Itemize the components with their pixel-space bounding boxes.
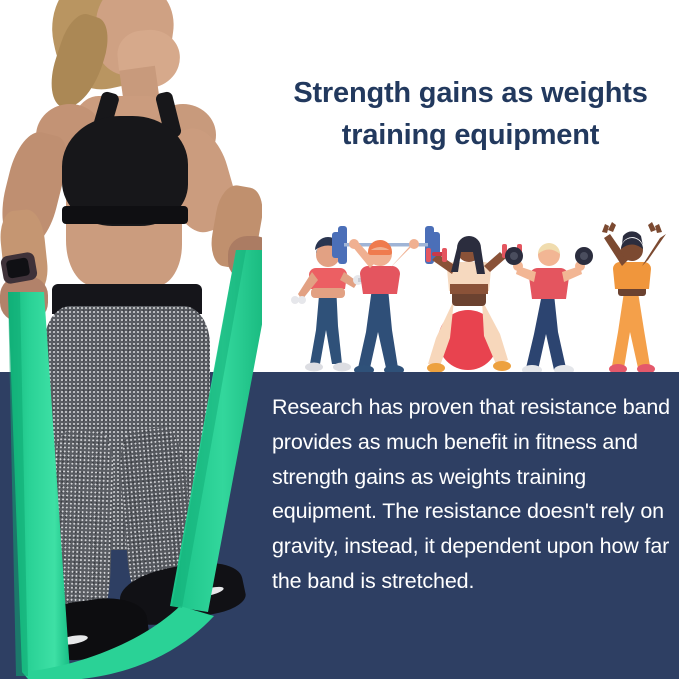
headline-line-2: training equipment (262, 114, 679, 156)
body-copy-text: Research has proven that resistance band… (262, 372, 679, 599)
figure-arms-up-woman (602, 222, 666, 374)
resistance-band (0, 0, 262, 679)
headline-line-1: Strength gains as weights (262, 72, 679, 114)
dumbbell-figure4-right (575, 247, 593, 265)
figure-dumbbell-woman (291, 237, 371, 371)
page-title: Strength gains as weights training equip… (262, 72, 679, 156)
promo-image: Strength gains as weights training equip… (0, 0, 679, 679)
model-photo (0, 0, 262, 679)
dumbbell-figure4-left (505, 247, 523, 265)
dumbbell-figure1-b (291, 296, 306, 304)
exercise-figures-illustration (286, 222, 679, 374)
figure-barbell-man (332, 226, 440, 374)
figure-shoulder-press-man (505, 243, 593, 374)
body-copy-panel: Research has proven that resistance band… (262, 372, 679, 679)
